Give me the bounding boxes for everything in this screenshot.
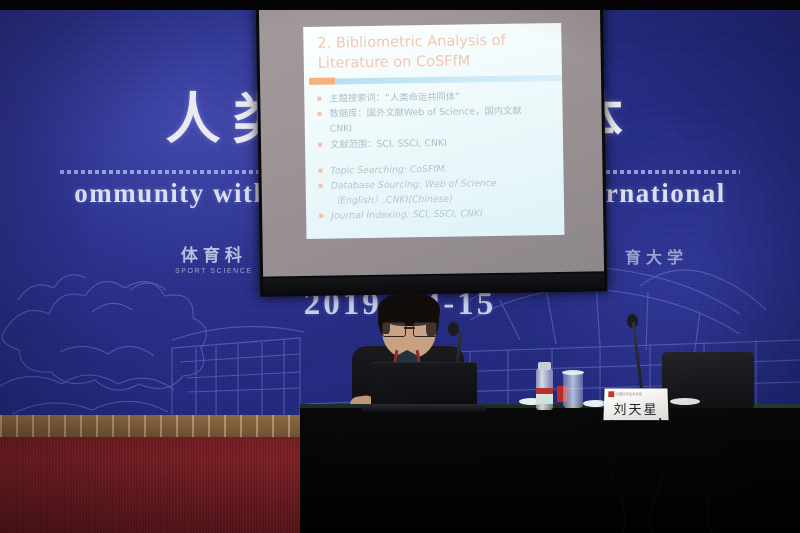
placard-speaker-name: 刘天星: [603, 399, 668, 418]
slide-bullet-cn-1: 主题搜索词：“人类命运共同体”: [316, 89, 556, 106]
sponsor-logo-left-english: SPORT SCIENCE: [175, 268, 253, 275]
slide-bullet-en-2-cont: （English）,CNKI(Chinese): [318, 191, 558, 208]
sponsor-logo-right-chinese: 育大学: [625, 250, 688, 266]
presenter-glasses-icon: [382, 322, 437, 335]
slide-bullet-cn-3: 文献范围：SCI, SSCI, CNKI: [317, 135, 557, 152]
microphone-head-left-icon: [448, 322, 459, 336]
sponsor-logo-left: 体育科 SPORT SCIENCE: [175, 248, 253, 275]
slide-bullet-list: 主题搜索词：“人类命运共同体” 数据库：国外文献Web of Science，国…: [316, 89, 558, 225]
slide-title: 2. Bibliometric Analysis of Literature o…: [317, 31, 556, 74]
ceiling-dark-band: [0, 0, 800, 10]
drinking-glass-rim: [562, 370, 584, 375]
glasses-lens-right: [413, 322, 437, 337]
slide-bullet-en-1: Topic Searching: CoSFfM.: [317, 161, 557, 178]
slide-accent-blue-bar: [335, 75, 562, 85]
conference-photo-scene: 人类命运共同体 ommunity with a Shared Future an…: [0, 0, 800, 533]
placard-logo-text: 中国科学技术协会: [615, 391, 642, 397]
drinking-glass: [563, 372, 583, 408]
placard-logo-mark-icon: [608, 391, 614, 397]
slide-bullet-cn-2-cont: CNKI: [317, 119, 557, 136]
placard-organization-logo: 中国科学技术协会: [608, 391, 630, 397]
slide-accent-orange-bar: [309, 78, 335, 85]
podium-table-skirt: [300, 408, 800, 533]
laptop-keyboard-base[interactable]: [362, 404, 486, 412]
slide-bullet-en-3: Journal Indexing: SCI, SSCI, CNKI: [318, 206, 558, 223]
glasses-lens-left: [382, 322, 406, 337]
name-placard: 中国科学技术协会 刘天星: [603, 388, 668, 420]
water-bottle-label-red-band: [536, 388, 553, 394]
sponsor-logo-right: 育大学: [625, 250, 688, 266]
projection-screen: 2. Bibliometric Analysis of Literature o…: [256, 0, 608, 297]
sponsor-logo-left-chinese: 体育科: [175, 248, 253, 265]
saucer-right: [670, 398, 700, 405]
slide-bullet-cn-2: 数据库：国外文献Web of Science，国内文献: [316, 104, 556, 121]
presentation-slide: 2. Bibliometric Analysis of Literature o…: [303, 23, 564, 239]
water-bottle-cap: [538, 362, 551, 370]
projection-screen-surface: 2. Bibliometric Analysis of Literature o…: [259, 0, 604, 277]
laptop-screen[interactable]: [371, 362, 477, 410]
slide-bullet-en-2: Database Sourcing: Web of Science: [318, 176, 558, 193]
